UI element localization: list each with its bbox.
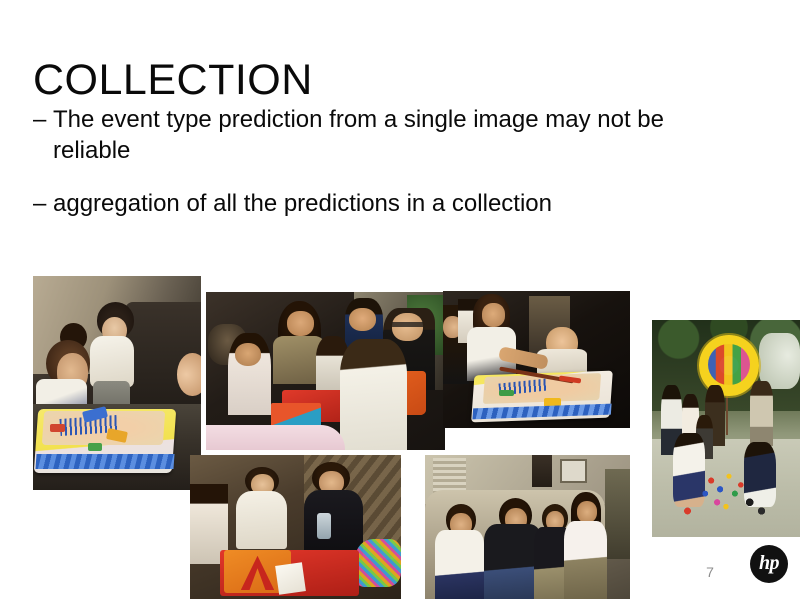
photo-pinata <box>652 320 800 537</box>
bullet-item-2: – aggregation of all the predictions in … <box>33 188 763 219</box>
slide-number: 7 <box>700 564 720 580</box>
presentation-slide: COLLECTION – The event type prediction f… <box>0 0 800 599</box>
hp-logo-text: hp <box>750 545 788 583</box>
page-title: COLLECTION <box>33 58 313 103</box>
photo-cake-table <box>33 276 201 490</box>
photo-living-room <box>206 292 445 450</box>
bullet-marker-icon: – <box>33 188 53 219</box>
bullet-list: – The event type prediction from a singl… <box>33 104 763 241</box>
photo-couch-kids <box>425 455 630 599</box>
photo-floor-gift <box>190 455 401 599</box>
photo-cake-fish <box>443 291 630 428</box>
bullet-item-1: – The event type prediction from a singl… <box>33 104 763 166</box>
bullet-text-1: The event type prediction from a single … <box>53 104 743 166</box>
bullet-text-2: aggregation of all the predictions in a … <box>53 188 552 219</box>
bullet-marker-icon: – <box>33 104 53 135</box>
hp-logo: hp <box>750 545 788 583</box>
